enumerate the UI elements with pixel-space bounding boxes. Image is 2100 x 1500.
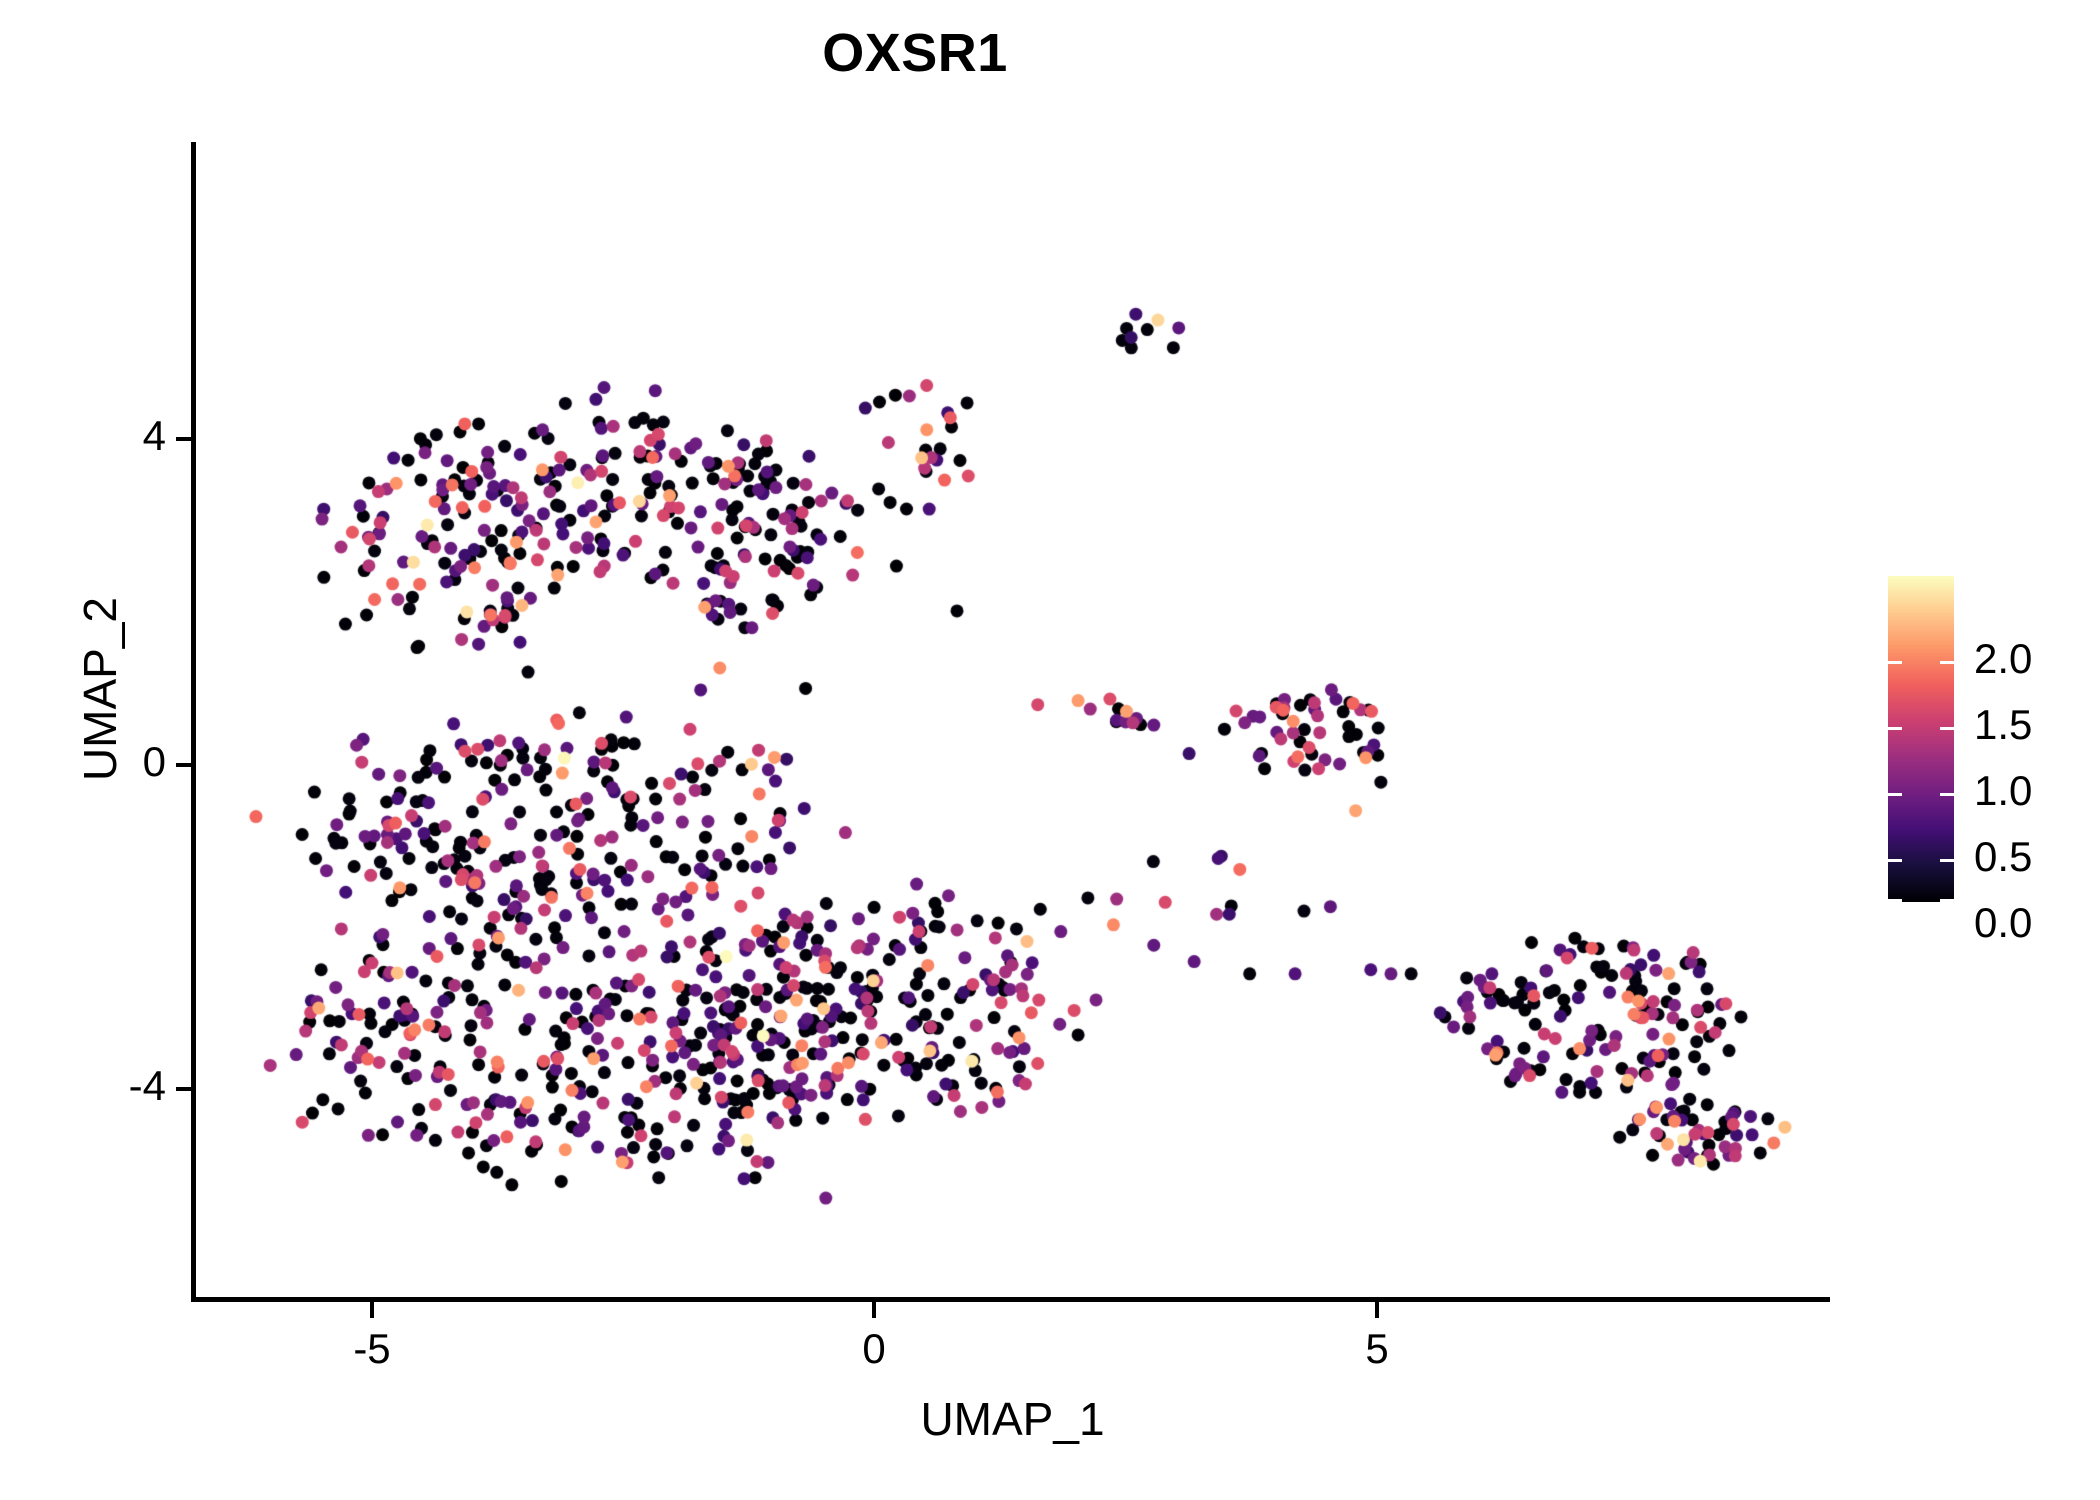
scatter-points-canvas [195, 142, 1830, 1300]
x-tick-label-neg5: -5 [312, 1325, 432, 1373]
x-tick-0 [872, 1302, 876, 1318]
y-axis-title: UMAP_2 [73, 289, 127, 1089]
colorbar-tick-2-left [1888, 661, 1902, 664]
x-tick-label-0: 0 [814, 1325, 934, 1373]
colorbar-tick-15-left [1888, 727, 1902, 730]
y-tick-4 [176, 437, 192, 441]
plot-panel [195, 142, 1830, 1300]
colorbar-label-2-0: 2.0 [1974, 638, 2032, 680]
colorbar-label-0-5: 0.5 [1974, 836, 2032, 878]
colorbar-gradient [1888, 576, 1954, 902]
colorbar-tick-15-right [1940, 727, 1954, 730]
colorbar-tick-0-right [1940, 899, 1954, 902]
x-tick-5 [1375, 1302, 1379, 1318]
colorbar-tick-05-left [1888, 859, 1902, 862]
colorbar-label-1-0: 1.0 [1974, 770, 2032, 812]
y-tick-neg4 [176, 1087, 192, 1091]
colorbar-tick-0-left [1888, 899, 1902, 902]
colorbar-tick-1-left [1888, 793, 1902, 796]
page-title: OXSR1 [0, 22, 1830, 84]
y-tick-0 [176, 763, 192, 767]
x-axis-line [191, 1297, 1830, 1302]
umap-feature-plot: OXSR1 4 0 -4 -5 0 5 UMAP_1 UMAP_2 2.0 1.… [0, 0, 2100, 1500]
x-axis-title: UMAP_1 [195, 1392, 1830, 1446]
x-tick-label-5: 5 [1317, 1325, 1437, 1373]
colorbar-label-0-0: 0.0 [1974, 902, 2032, 944]
colorbar-label-1-5: 1.5 [1974, 704, 2032, 746]
colorbar-tick-2-right [1940, 661, 1954, 664]
colorbar-tick-1-right [1940, 793, 1954, 796]
colorbar-tick-05-right [1940, 859, 1954, 862]
y-axis-line [191, 142, 196, 1302]
x-tick-neg5 [370, 1302, 374, 1318]
